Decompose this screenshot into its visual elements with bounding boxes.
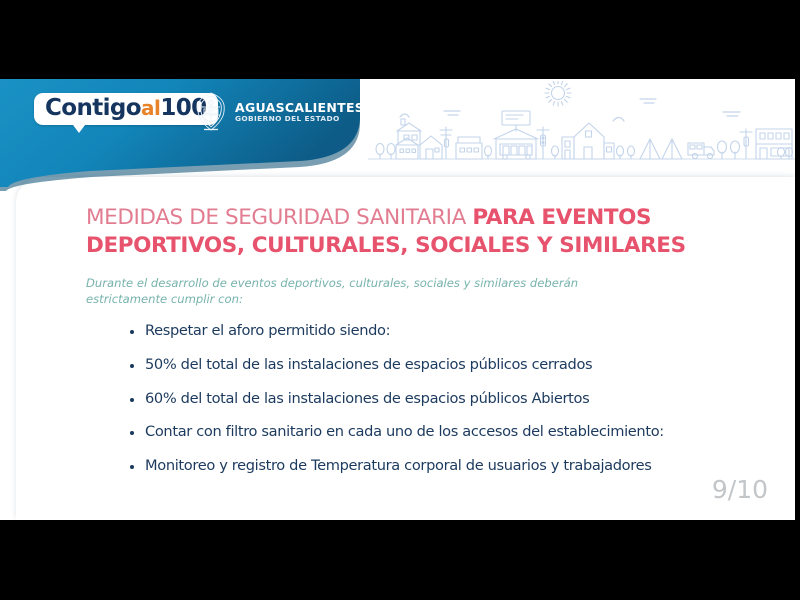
tree-icon [778,148,793,160]
tree-icon [617,146,635,159]
list-item-label: Contar con filtro sanitario en cada uno … [145,423,664,440]
government-wordmark: AGUASCALIENTES GOBIERNO DEL ESTADO [235,101,364,123]
list-item: 60% del total de las instalaciones de es… [128,391,768,408]
aguascalientes-state-seal-icon [194,91,228,133]
video-player-viewport: Contigoal100 AGUASCALIEN [0,0,800,600]
title-light-part: MEDIDAS DE SEGURIDAD SANITARIA [86,205,472,230]
building-icon [756,129,792,159]
list-item-label: 60% del total de las instalaciones de es… [145,390,589,407]
slide-content-area: Contigoal100 AGUASCALIEN [0,79,795,520]
measures-list: Respetar el aforo permitido siendo: 50% … [128,323,768,475]
list-item: Contar con filtro sanitario en cada uno … [128,424,768,441]
traffic-light-icon [537,127,549,159]
shop-icon [456,137,482,159]
church-icon [574,123,614,159]
list-item: 50% del total de las instalaciones de es… [128,357,768,374]
list-item-label: 50% del total de las instalaciones de es… [145,356,592,373]
list-item: Respetar el aforo permitido siendo: [128,323,768,340]
building-icon [562,137,574,159]
cloud-icon [444,99,740,116]
bullet-dot-icon [130,431,134,435]
house-icon [396,119,442,159]
logo-text-al: al [141,96,160,120]
tent-icon [640,139,682,159]
shop-icon [494,129,538,159]
billboard-icon [502,111,530,131]
list-item-label: Monitoreo y registro de Temperatura corp… [145,457,651,474]
bullet-dot-icon [130,364,134,368]
brand-banner: Contigoal100 AGUASCALIEN [0,79,360,187]
page-indicator: 9/10 [712,475,768,504]
tree-icon [718,141,740,159]
subtitle-text: Durante el desarrollo de eventos deporti… [86,275,646,308]
bullet-dot-icon [130,465,134,469]
government-branding: AGUASCALIENTES GOBIERNO DEL ESTADO [194,91,364,133]
sun-icon [545,81,571,106]
contigo-al-100-logo: Contigoal100 [34,93,218,125]
page-title: MEDIDAS DE SEGURIDAD SANITARIA PARA EVEN… [86,204,726,260]
bullet-dot-icon [130,398,134,402]
truck-icon [688,143,714,159]
gov-subtitle: GOBIERNO DEL ESTADO [235,115,364,123]
tree-icon [485,146,492,159]
list-item: Monitoreo y registro de Temperatura corp… [128,458,768,475]
list-item-label: Respetar el aforo permitido siendo: [145,322,390,339]
city-skyline-illustration [368,81,795,171]
gov-title: AGUASCALIENTES [235,101,364,114]
tree-icon [376,144,395,160]
tree-icon [552,146,559,159]
bullet-dot-icon [130,330,134,334]
streetlight-icon [740,129,752,159]
logo-bubble-tail [73,125,85,133]
logo-text-contigo: Contigo [45,95,141,121]
